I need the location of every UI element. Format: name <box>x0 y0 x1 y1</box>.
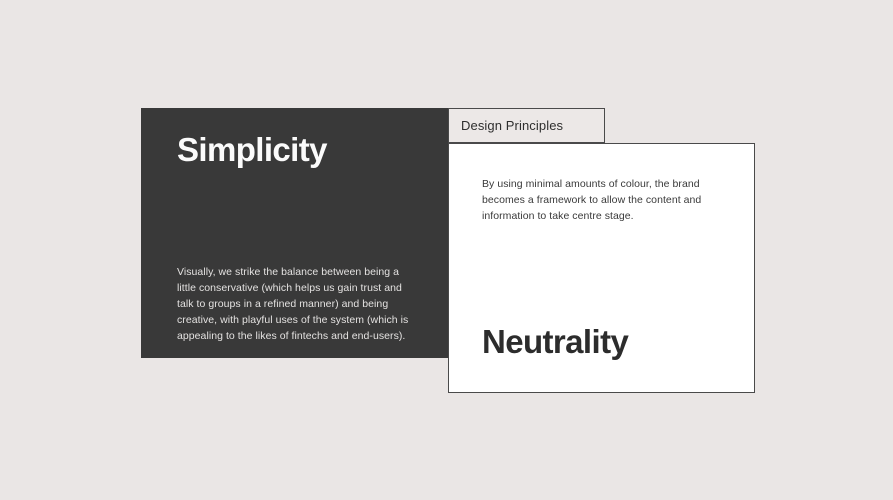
neutrality-card-body: By using minimal amounts of colour, the … <box>482 177 714 225</box>
tab-design-principles-label: Design Principles <box>449 119 563 132</box>
tab-design-principles[interactable]: Design Principles <box>448 108 605 143</box>
simplicity-card-title: Simplicity <box>177 132 327 168</box>
simplicity-card: Simplicity Visually, we strike the balan… <box>141 108 448 358</box>
neutrality-card: By using minimal amounts of colour, the … <box>448 143 755 393</box>
simplicity-card-body: Visually, we strike the balance between … <box>177 265 417 345</box>
slide-canvas: Simplicity Visually, we strike the balan… <box>0 0 893 500</box>
neutrality-card-title: Neutrality <box>482 324 628 360</box>
